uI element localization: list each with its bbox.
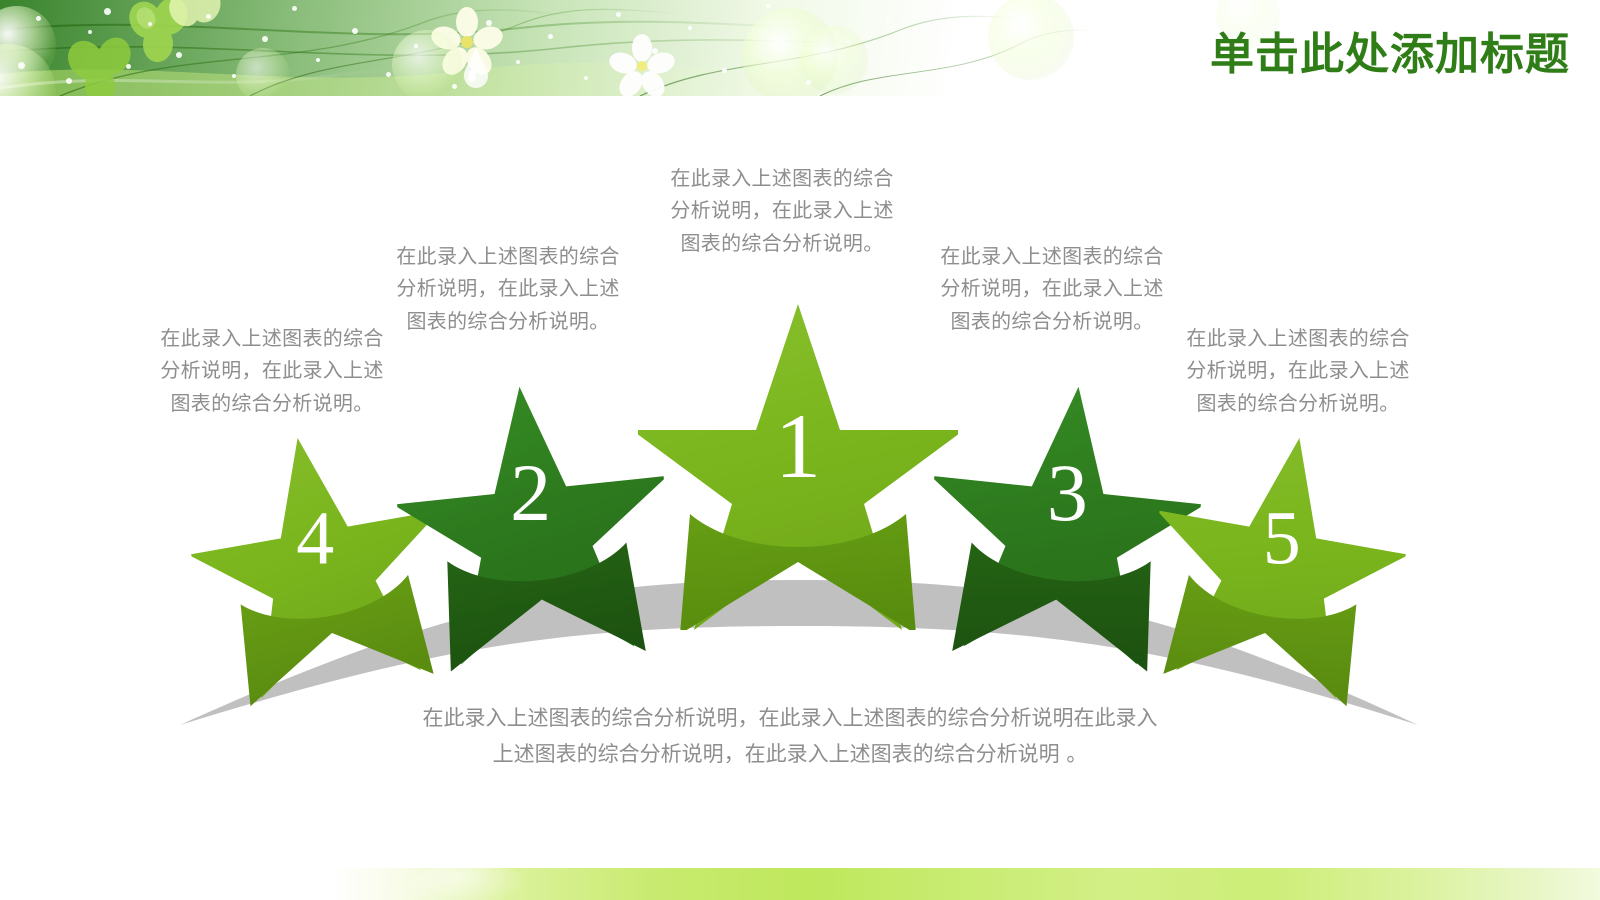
star-number-2: 2 — [397, 452, 665, 534]
slide-canvas: 单击此处添加标题 — [0, 0, 1600, 900]
callout-text-2: 在此录入上述图表的综合分析说明，在此录入上述图表的综合分析说明。 — [388, 240, 628, 337]
star-item-5[interactable]: 5 — [1130, 410, 1423, 719]
footer-strip — [330, 868, 1600, 900]
star-number-5: 5 — [1157, 500, 1407, 576]
callout-text-5: 在此录入上述图表的综合分析说明，在此录入上述图表的综合分析说明。 — [1178, 322, 1418, 419]
callout-text-3: 在此录入上述图表的综合分析说明，在此录入上述图表的综合分析说明。 — [932, 240, 1172, 337]
callout-text-1: 在此录入上述图表的综合分析说明，在此录入上述图表的综合分析说明。 — [662, 162, 902, 259]
diagram-caption: 在此录入上述图表的综合分析说明，在此录入上述图表的综合分析说明在此录入上述图表的… — [420, 700, 1160, 772]
star-item-1[interactable]: 1 — [638, 300, 958, 630]
footer-leaf-highlight — [410, 868, 530, 900]
star-number-1: 1 — [638, 400, 958, 492]
callout-text-4: 在此录入上述图表的综合分析说明，在此录入上述图表的综合分析说明。 — [152, 322, 392, 419]
